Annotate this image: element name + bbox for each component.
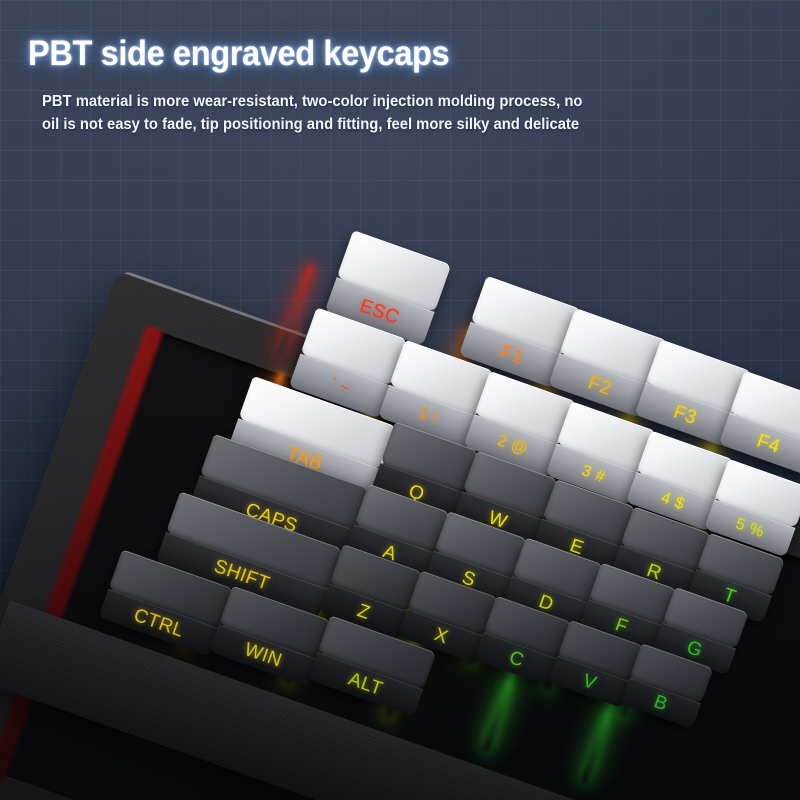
keycap-legend: G <box>684 637 705 660</box>
keycap-legend: F3 <box>671 402 699 428</box>
promo-banner: ESCF1F2F3F4` ~1 !2 @3 #4 $5 %TABQWERTCAP… <box>0 0 800 800</box>
keycap-legend: Z <box>355 601 373 623</box>
keycap-legend: 5 % <box>733 516 766 541</box>
keycap-legend: X <box>432 625 451 647</box>
keycap-legend: F <box>613 615 631 637</box>
keycap-legend: V <box>580 671 599 693</box>
keycap-legend: F1 <box>498 342 526 368</box>
keycap-legend: B <box>651 692 670 714</box>
keycap-legend: 1 ! <box>416 406 440 428</box>
keycap-legend: ALT <box>346 670 385 700</box>
keycap-legend: F2 <box>586 373 614 399</box>
rgb-light-strip <box>580 692 619 785</box>
keycap-legend: ` ~ <box>328 376 351 397</box>
keycap-legend: 3 # <box>580 463 608 486</box>
text-block: PBT side engraved keycaps PBT material i… <box>28 36 648 137</box>
keycap-legend: F4 <box>754 431 782 457</box>
keycap-legend: 4 $ <box>659 490 687 513</box>
keycap-legend: C <box>507 648 527 671</box>
keycap-legend: 2 @ <box>495 433 530 458</box>
keycap-legend: ESC <box>357 296 402 327</box>
description-text: PBT material is more wear-resistant, two… <box>42 91 596 137</box>
page-title: PBT side engraved keycaps <box>28 36 605 73</box>
